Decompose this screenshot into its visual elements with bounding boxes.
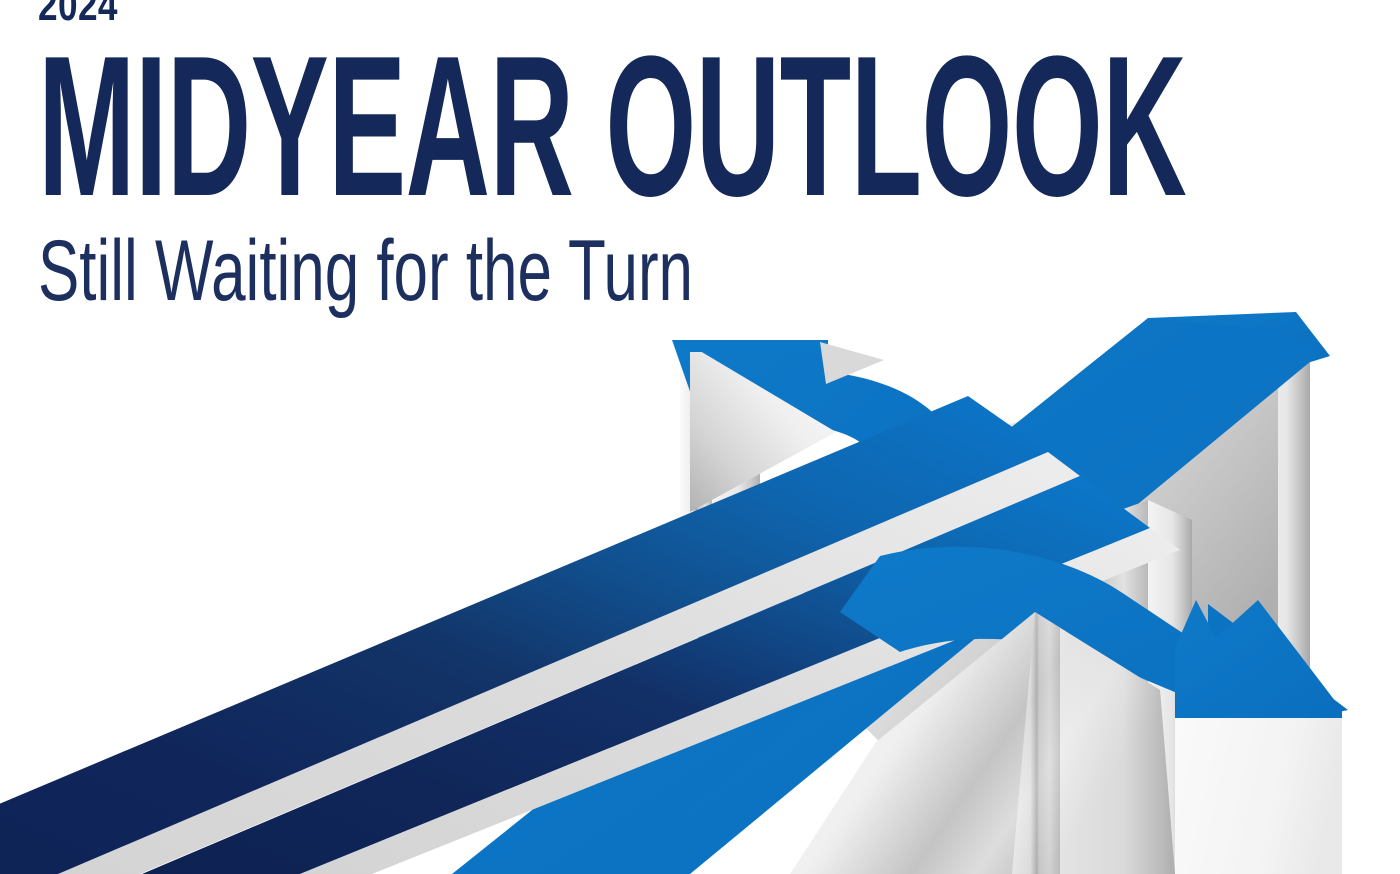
title-block: 2024 MIDYEAR OUTLOOK Still Waiting for t… <box>38 0 1400 298</box>
page-subtitle: Still Waiting for the Turn <box>38 228 1400 314</box>
report-cover-page: 2024 MIDYEAR OUTLOOK Still Waiting for t… <box>0 0 1400 874</box>
headline-wrap: MIDYEAR OUTLOOK <box>38 42 1400 194</box>
subtitle-wrap: Still Waiting for the Turn <box>38 228 1400 298</box>
page-title: MIDYEAR OUTLOOK <box>38 42 1186 212</box>
